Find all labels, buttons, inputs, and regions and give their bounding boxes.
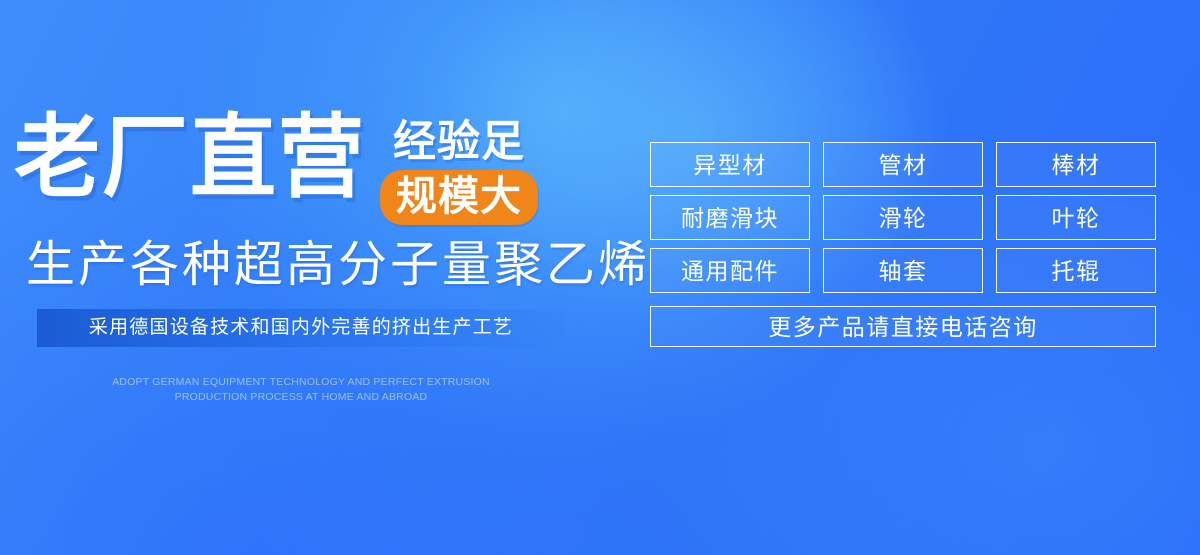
- product-category-item[interactable]: 耐磨滑块: [650, 195, 810, 240]
- product-category-label: 棒材: [1052, 152, 1101, 178]
- product-category-item[interactable]: 棒材: [996, 142, 1156, 187]
- product-category-label: 异型材: [693, 152, 767, 178]
- product-category-label: 管材: [879, 152, 928, 178]
- product-category-item[interactable]: 管材: [823, 142, 983, 187]
- product-category-item[interactable]: 异型材: [650, 142, 810, 187]
- product-category-label: 通用配件: [681, 258, 779, 284]
- product-category-item[interactable]: 通用配件: [650, 248, 810, 293]
- headline-primary: 老厂直营: [14, 108, 366, 208]
- product-category-label: 叶轮: [1052, 205, 1101, 231]
- headline-secondary: 生产各种超高分子量聚乙烯: [26, 236, 650, 294]
- english-subcopy-line-2: PRODUCTION PROCESS AT HOME AND ABROAD: [37, 390, 565, 405]
- more-products-label: 更多产品请直接电话咨询: [768, 314, 1038, 340]
- product-category-label: 耐磨滑块: [681, 205, 779, 231]
- tagline-bar: 采用德国设备技术和国内外完善的挤出生产工艺: [37, 309, 565, 347]
- product-category-item[interactable]: 托辊: [996, 248, 1156, 293]
- product-category-item[interactable]: 滑轮: [823, 195, 983, 240]
- product-category-label: 托辊: [1052, 258, 1101, 284]
- badge-experience: 经验足: [380, 118, 538, 166]
- headline-badge-stack: 经验足 规模大: [380, 118, 538, 225]
- english-subcopy: ADOPT GERMAN EQUIPMENT TECHNOLOGY AND PE…: [37, 375, 565, 405]
- more-products-button[interactable]: 更多产品请直接电话咨询: [650, 306, 1156, 347]
- product-category-grid: 异型材 管材 棒材 耐磨滑块 滑轮 叶轮 通用配件 轴套: [650, 142, 1156, 293]
- product-category-panel: 异型材 管材 棒材 耐磨滑块 滑轮 叶轮 通用配件 轴套: [650, 142, 1156, 347]
- product-category-label: 滑轮: [879, 205, 928, 231]
- badge-scale: 规模大: [380, 170, 538, 225]
- promo-copy-column: 老厂直营 经验足 规模大 生产各种超高分子量聚乙烯 采用德国设备技术和国内外完善…: [0, 0, 620, 555]
- product-category-label: 轴套: [879, 258, 928, 284]
- product-category-item[interactable]: 叶轮: [996, 195, 1156, 240]
- tagline-text: 采用德国设备技术和国内外完善的挤出生产工艺: [89, 317, 513, 339]
- headline-row: 老厂直营 经验足 规模大: [14, 108, 538, 225]
- english-subcopy-line-1: ADOPT GERMAN EQUIPMENT TECHNOLOGY AND PE…: [37, 375, 565, 390]
- product-category-item[interactable]: 轴套: [823, 248, 983, 293]
- promo-banner: 老厂直营 经验足 规模大 生产各种超高分子量聚乙烯 采用德国设备技术和国内外完善…: [0, 0, 1200, 555]
